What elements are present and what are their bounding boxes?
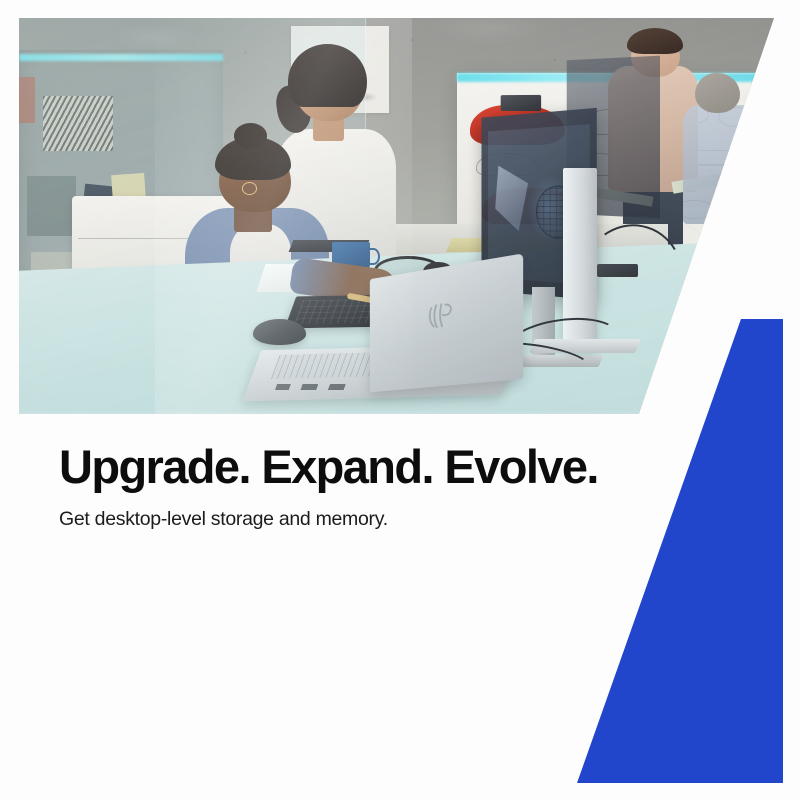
page-title: Upgrade. Expand. Evolve. (59, 443, 619, 490)
earring-icon (242, 182, 257, 195)
tech-circle (721, 203, 757, 223)
background-person-head (695, 73, 740, 113)
copy-block: Upgrade. Expand. Evolve. Get desktop-lev… (59, 443, 619, 531)
cad-polygon (495, 165, 528, 232)
marketing-poster: Upgrade. Expand. Evolve. Get desktop-lev… (0, 0, 800, 800)
hero-photo (19, 18, 774, 414)
hp-logo-icon (420, 295, 465, 334)
page-subtitle: Get desktop-level storage and memory. (59, 508, 619, 531)
dimension-line (702, 232, 755, 234)
studio-scene (19, 18, 774, 414)
webcam (501, 95, 542, 111)
background-person-body (683, 105, 759, 224)
hp-laptop-ports (275, 384, 375, 390)
mouse (253, 319, 306, 345)
seated-woman-hair-bun (234, 123, 267, 149)
